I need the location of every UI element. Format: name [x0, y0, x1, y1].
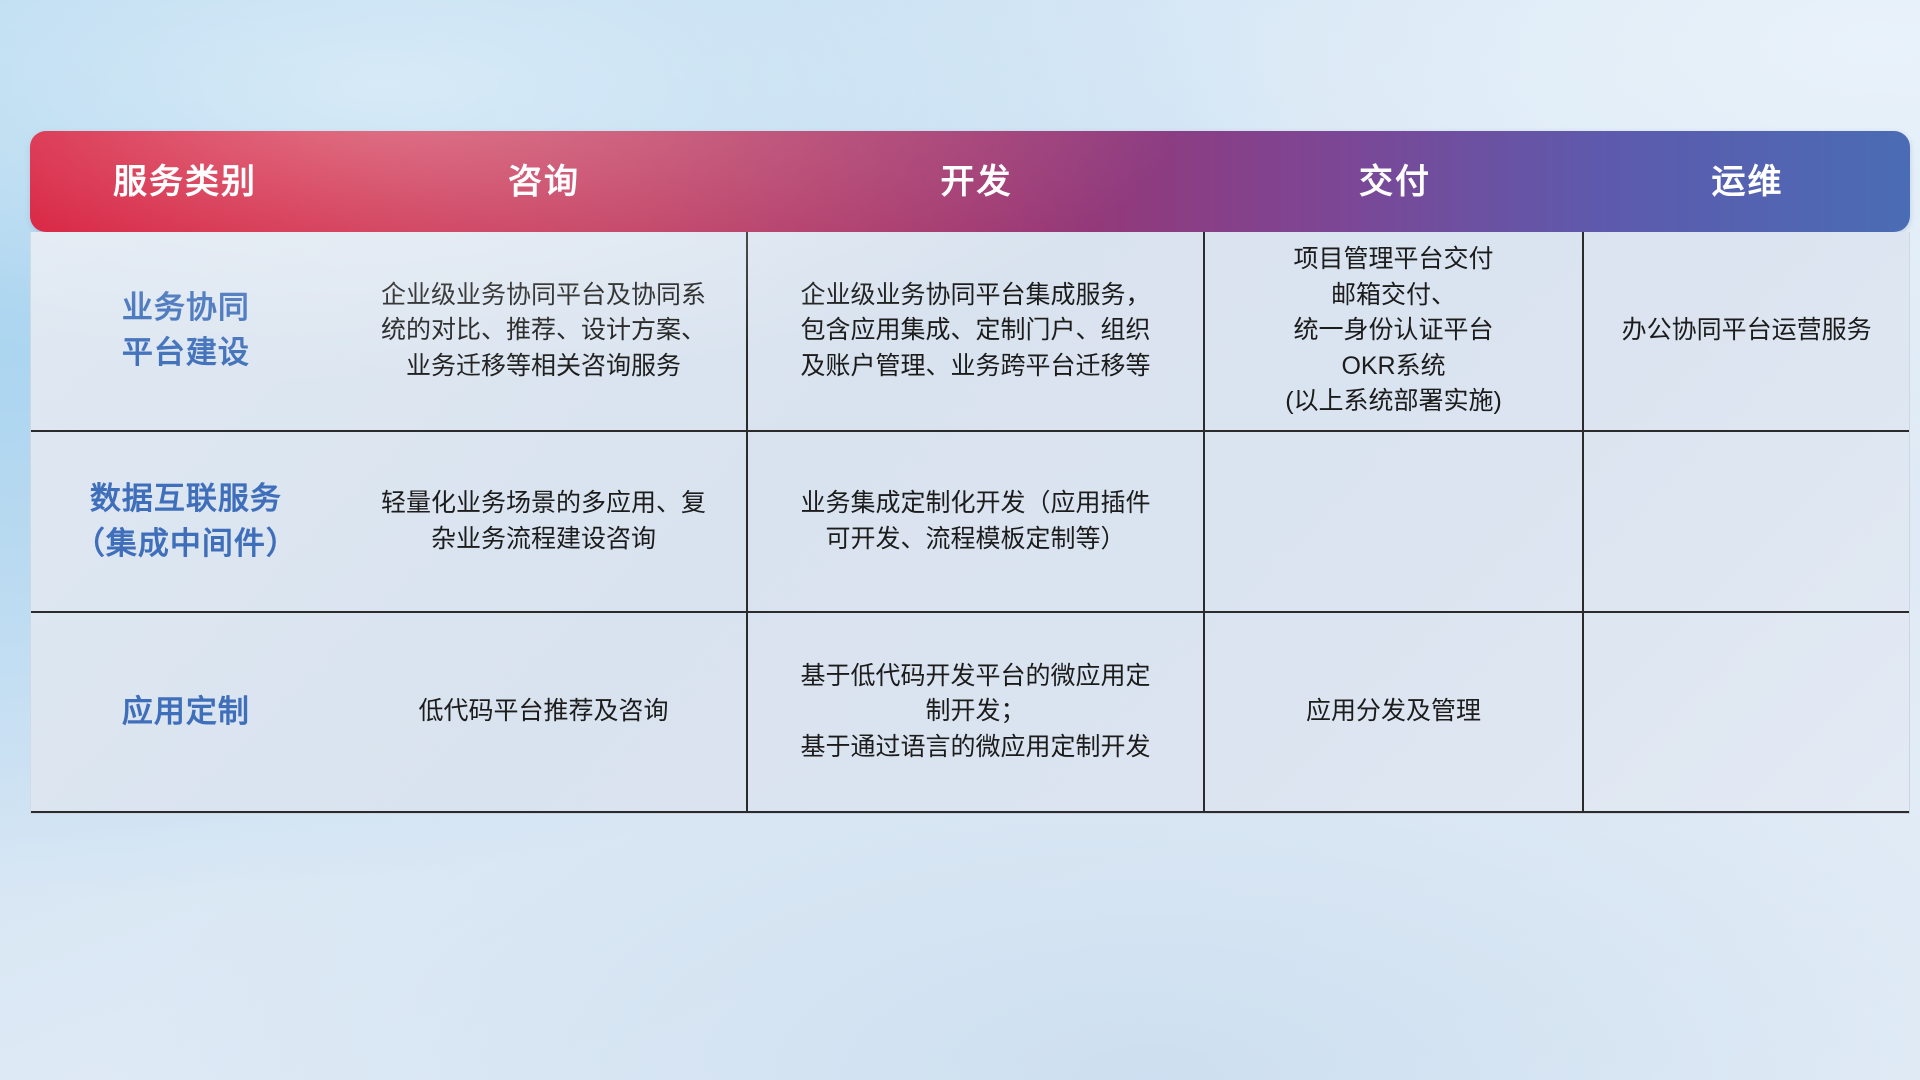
slide-canvas: 服务类别 咨询 开发 交付 运维 业务协同 平台建设 企业级业务协同平台及协同系…	[0, 0, 1920, 1080]
cell-consulting-2: 低代码平台推荐及咨询	[341, 613, 749, 811]
column-header-delivery: 交付	[1205, 131, 1585, 232]
cell-category-1: 数据互联服务 （集成中间件）	[31, 432, 341, 611]
cell-operations-0: 办公协同平台运营服务	[1584, 232, 1909, 430]
cell-development-1: 业务集成定制化开发（应用插件 可开发、流程模板定制等）	[748, 432, 1205, 611]
cell-category-2: 应用定制	[31, 613, 341, 811]
service-matrix-table: 服务类别 咨询 开发 交付 运维 业务协同 平台建设 企业级业务协同平台及协同系…	[30, 131, 1910, 814]
column-header-operations: 运维	[1585, 131, 1910, 232]
table-row: 应用定制 低代码平台推荐及咨询 基于低代码开发平台的微应用定 制开发； 基于通过…	[31, 613, 1909, 813]
table-body: 业务协同 平台建设 企业级业务协同平台及协同系 统的对比、推荐、设计方案、 业务…	[30, 232, 1910, 814]
cell-delivery-0: 项目管理平台交付 邮箱交付、 统一身份认证平台 OKR系统 (以上系统部署实施)	[1205, 232, 1585, 430]
cell-delivery-1	[1205, 432, 1585, 611]
cell-operations-2	[1584, 613, 1909, 811]
cell-development-0: 企业级业务协同平台集成服务， 包含应用集成、定制门户、组织 及账户管理、业务跨平…	[748, 232, 1205, 430]
column-header-development: 开发	[748, 131, 1205, 232]
table-row: 业务协同 平台建设 企业级业务协同平台及协同系 统的对比、推荐、设计方案、 业务…	[31, 232, 1909, 432]
table-header-row: 服务类别 咨询 开发 交付 运维	[30, 131, 1910, 232]
cell-operations-1	[1584, 432, 1909, 611]
cell-consulting-0: 企业级业务协同平台及协同系 统的对比、推荐、设计方案、 业务迁移等相关咨询服务	[341, 232, 749, 430]
cell-consulting-1: 轻量化业务场景的多应用、复 杂业务流程建设咨询	[341, 432, 749, 611]
cell-delivery-2: 应用分发及管理	[1205, 613, 1585, 811]
cell-development-2: 基于低代码开发平台的微应用定 制开发； 基于通过语言的微应用定制开发	[748, 613, 1205, 811]
column-header-consulting: 咨询	[340, 131, 748, 232]
cell-category-0: 业务协同 平台建设	[31, 232, 341, 430]
table-row: 数据互联服务 （集成中间件） 轻量化业务场景的多应用、复 杂业务流程建设咨询 业…	[31, 432, 1909, 613]
column-header-category: 服务类别	[30, 131, 340, 232]
